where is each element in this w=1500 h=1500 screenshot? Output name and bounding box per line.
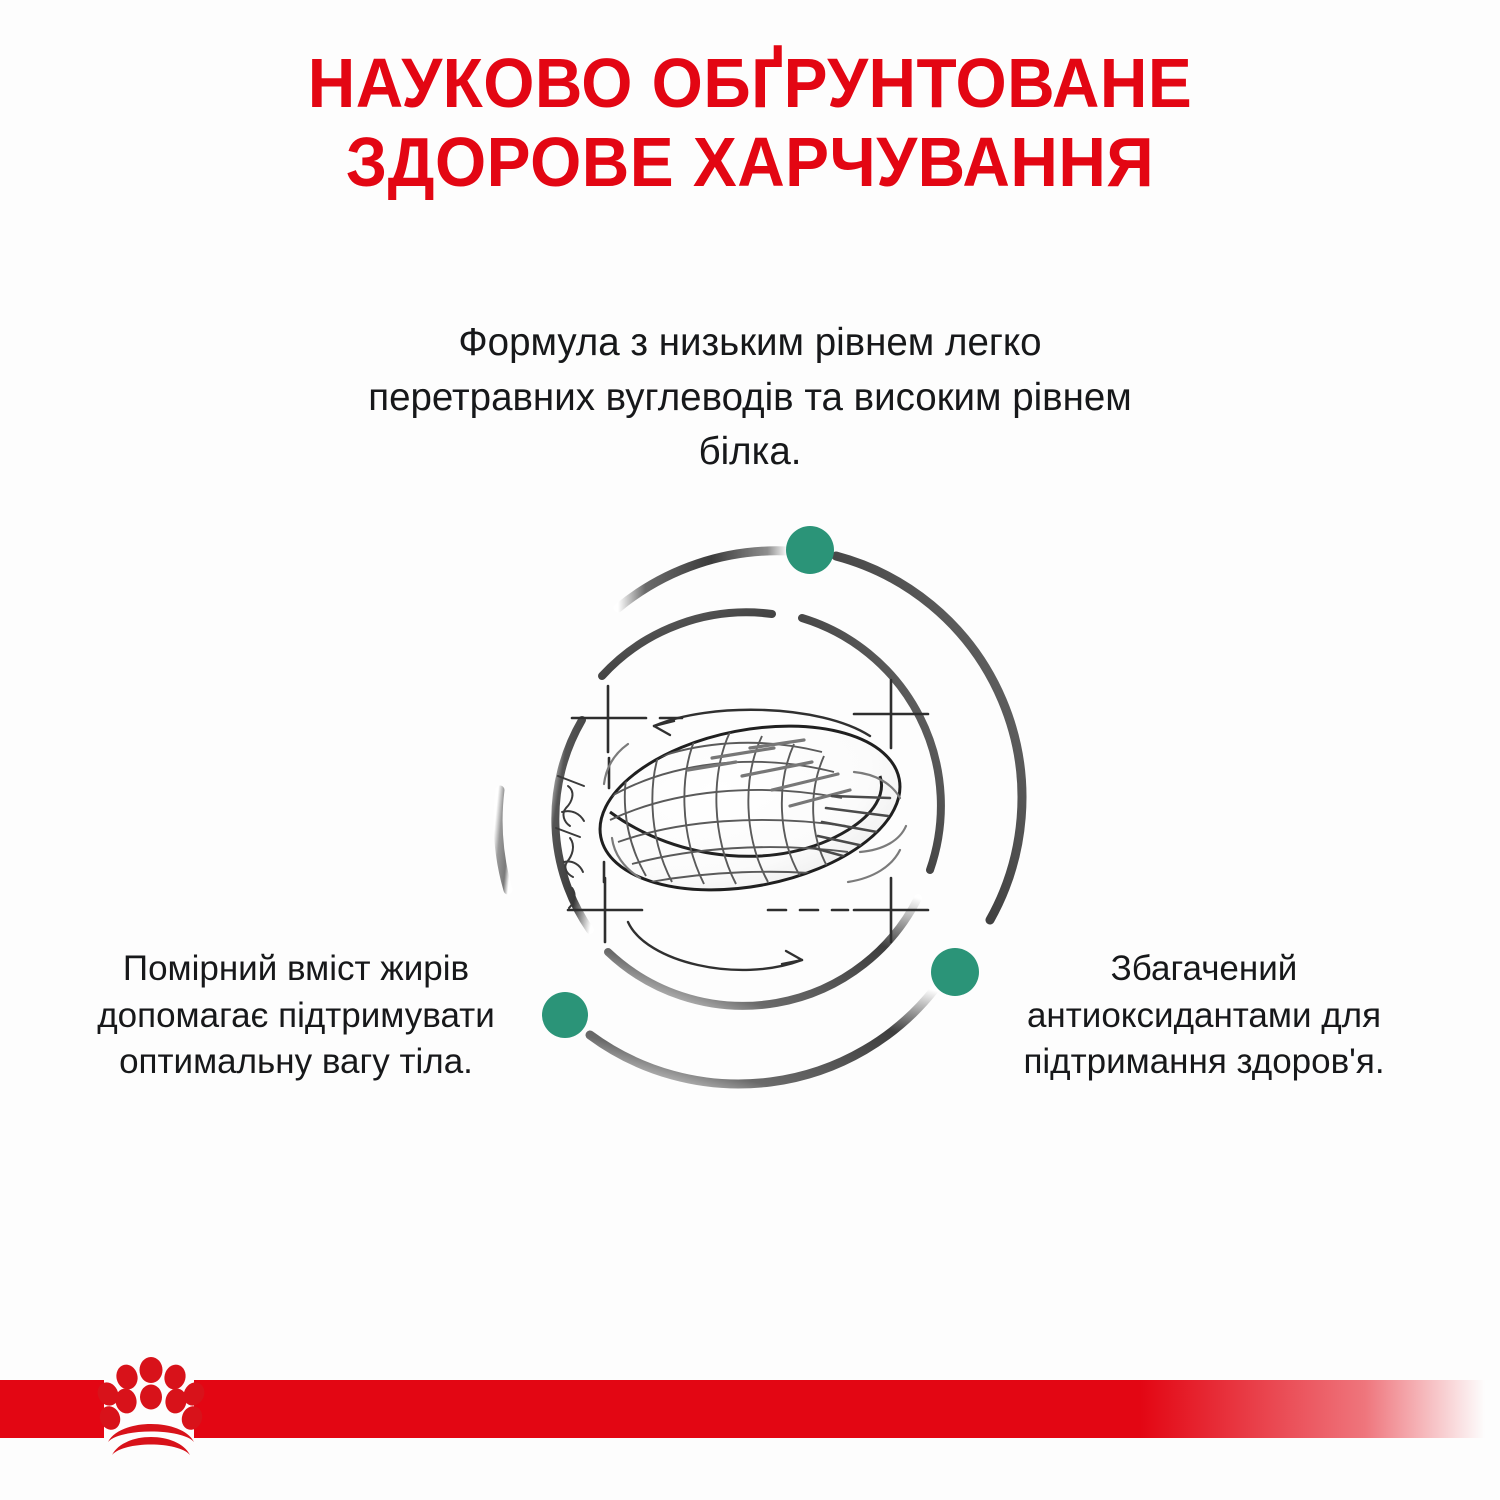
accent-dot-bottom-left (542, 992, 588, 1038)
intro-text: Формула з низьким рівнем легко перетравн… (350, 316, 1150, 480)
page-title-line-2: ЗДОРОВЕ ХАРЧУВАННЯ (45, 123, 1455, 202)
brand-bar-band (0, 1380, 1500, 1438)
caption-fat-content: Помірний вміст жирів допомагає підтримув… (96, 946, 496, 1086)
royal-canin-crown-logo (96, 1356, 206, 1462)
caption-antioxidants: Збагачений антиоксидантами для підтриман… (964, 946, 1444, 1086)
accent-dot-top (786, 526, 834, 574)
brand-bar (0, 1380, 1500, 1438)
page-title-line-1: НАУКОВО ОБҐРУНТОВАНЕ (45, 44, 1455, 123)
page-title: НАУКОВО ОБҐРУНТОВАНЕ ЗДОРОВЕ ХАРЧУВАННЯ (45, 44, 1455, 202)
